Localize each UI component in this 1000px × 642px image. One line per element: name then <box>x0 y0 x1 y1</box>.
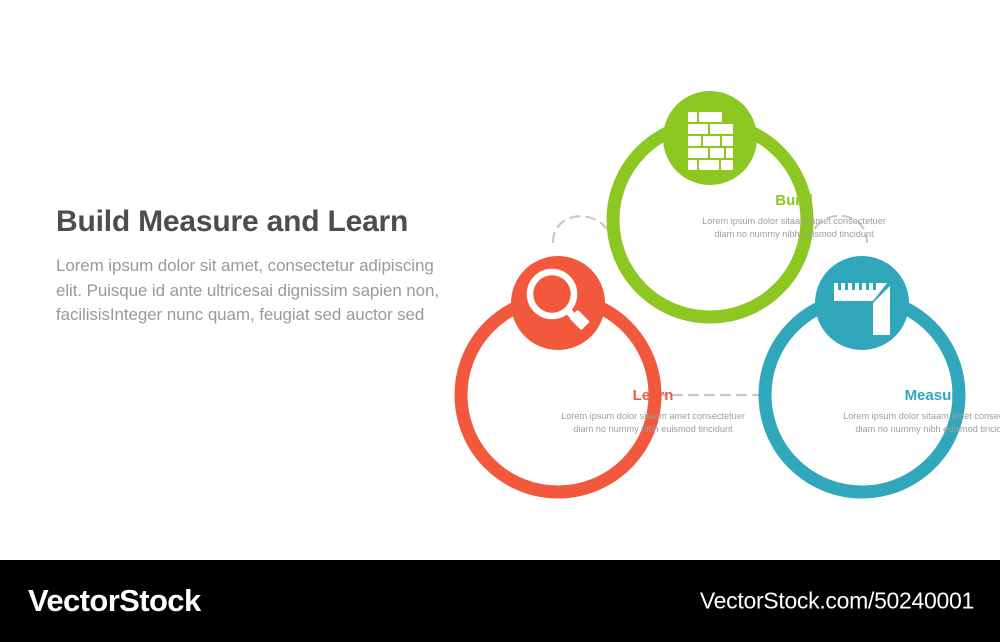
node-text-measure: Measure Lorem ipsum dolor sitaam amet co… <box>840 388 1000 436</box>
node-desc-learn: Lorem ipsum dolor sitaam amet consectetu… <box>558 410 748 437</box>
diagram-svg <box>430 30 990 530</box>
infographic-canvas: Build Measure and Learn Lorem ipsum dolo… <box>0 0 1000 642</box>
connector-learn-to-build <box>553 216 606 242</box>
badge-build[interactable] <box>663 91 757 185</box>
badge-measure[interactable] <box>815 256 909 350</box>
node-text-build: Build Lorem ipsum dolor sitaam amet cons… <box>699 193 889 241</box>
node-desc-measure: Lorem ipsum dolor sitaam amet consectetu… <box>840 410 1000 437</box>
node-desc-build: Lorem ipsum dolor sitaam amet consectetu… <box>699 215 889 242</box>
watermark-footer: VectorStock VectorStock.com/50240001 <box>0 560 1000 642</box>
page-title: Build Measure and Learn <box>56 205 446 238</box>
intro-paragraph: Lorem ipsum dolor sit amet, consectetur … <box>56 254 446 328</box>
badge-learn[interactable] <box>511 256 605 350</box>
node-title-build: Build <box>699 193 889 210</box>
brand-url-text: VectorStock.com/50240001 <box>700 588 974 615</box>
node-title-measure: Measure <box>840 388 1000 405</box>
node-text-learn: Learn Lorem ipsum dolor sitaam amet cons… <box>558 388 748 436</box>
intro-text-block: Build Measure and Learn Lorem ipsum dolo… <box>56 205 446 328</box>
badge-circle-measure <box>815 256 909 350</box>
brand-logo-text: VectorStock <box>28 583 201 619</box>
node-title-learn: Learn <box>558 388 748 405</box>
cycle-diagram: Build Lorem ipsum dolor sitaam amet cons… <box>430 30 990 530</box>
